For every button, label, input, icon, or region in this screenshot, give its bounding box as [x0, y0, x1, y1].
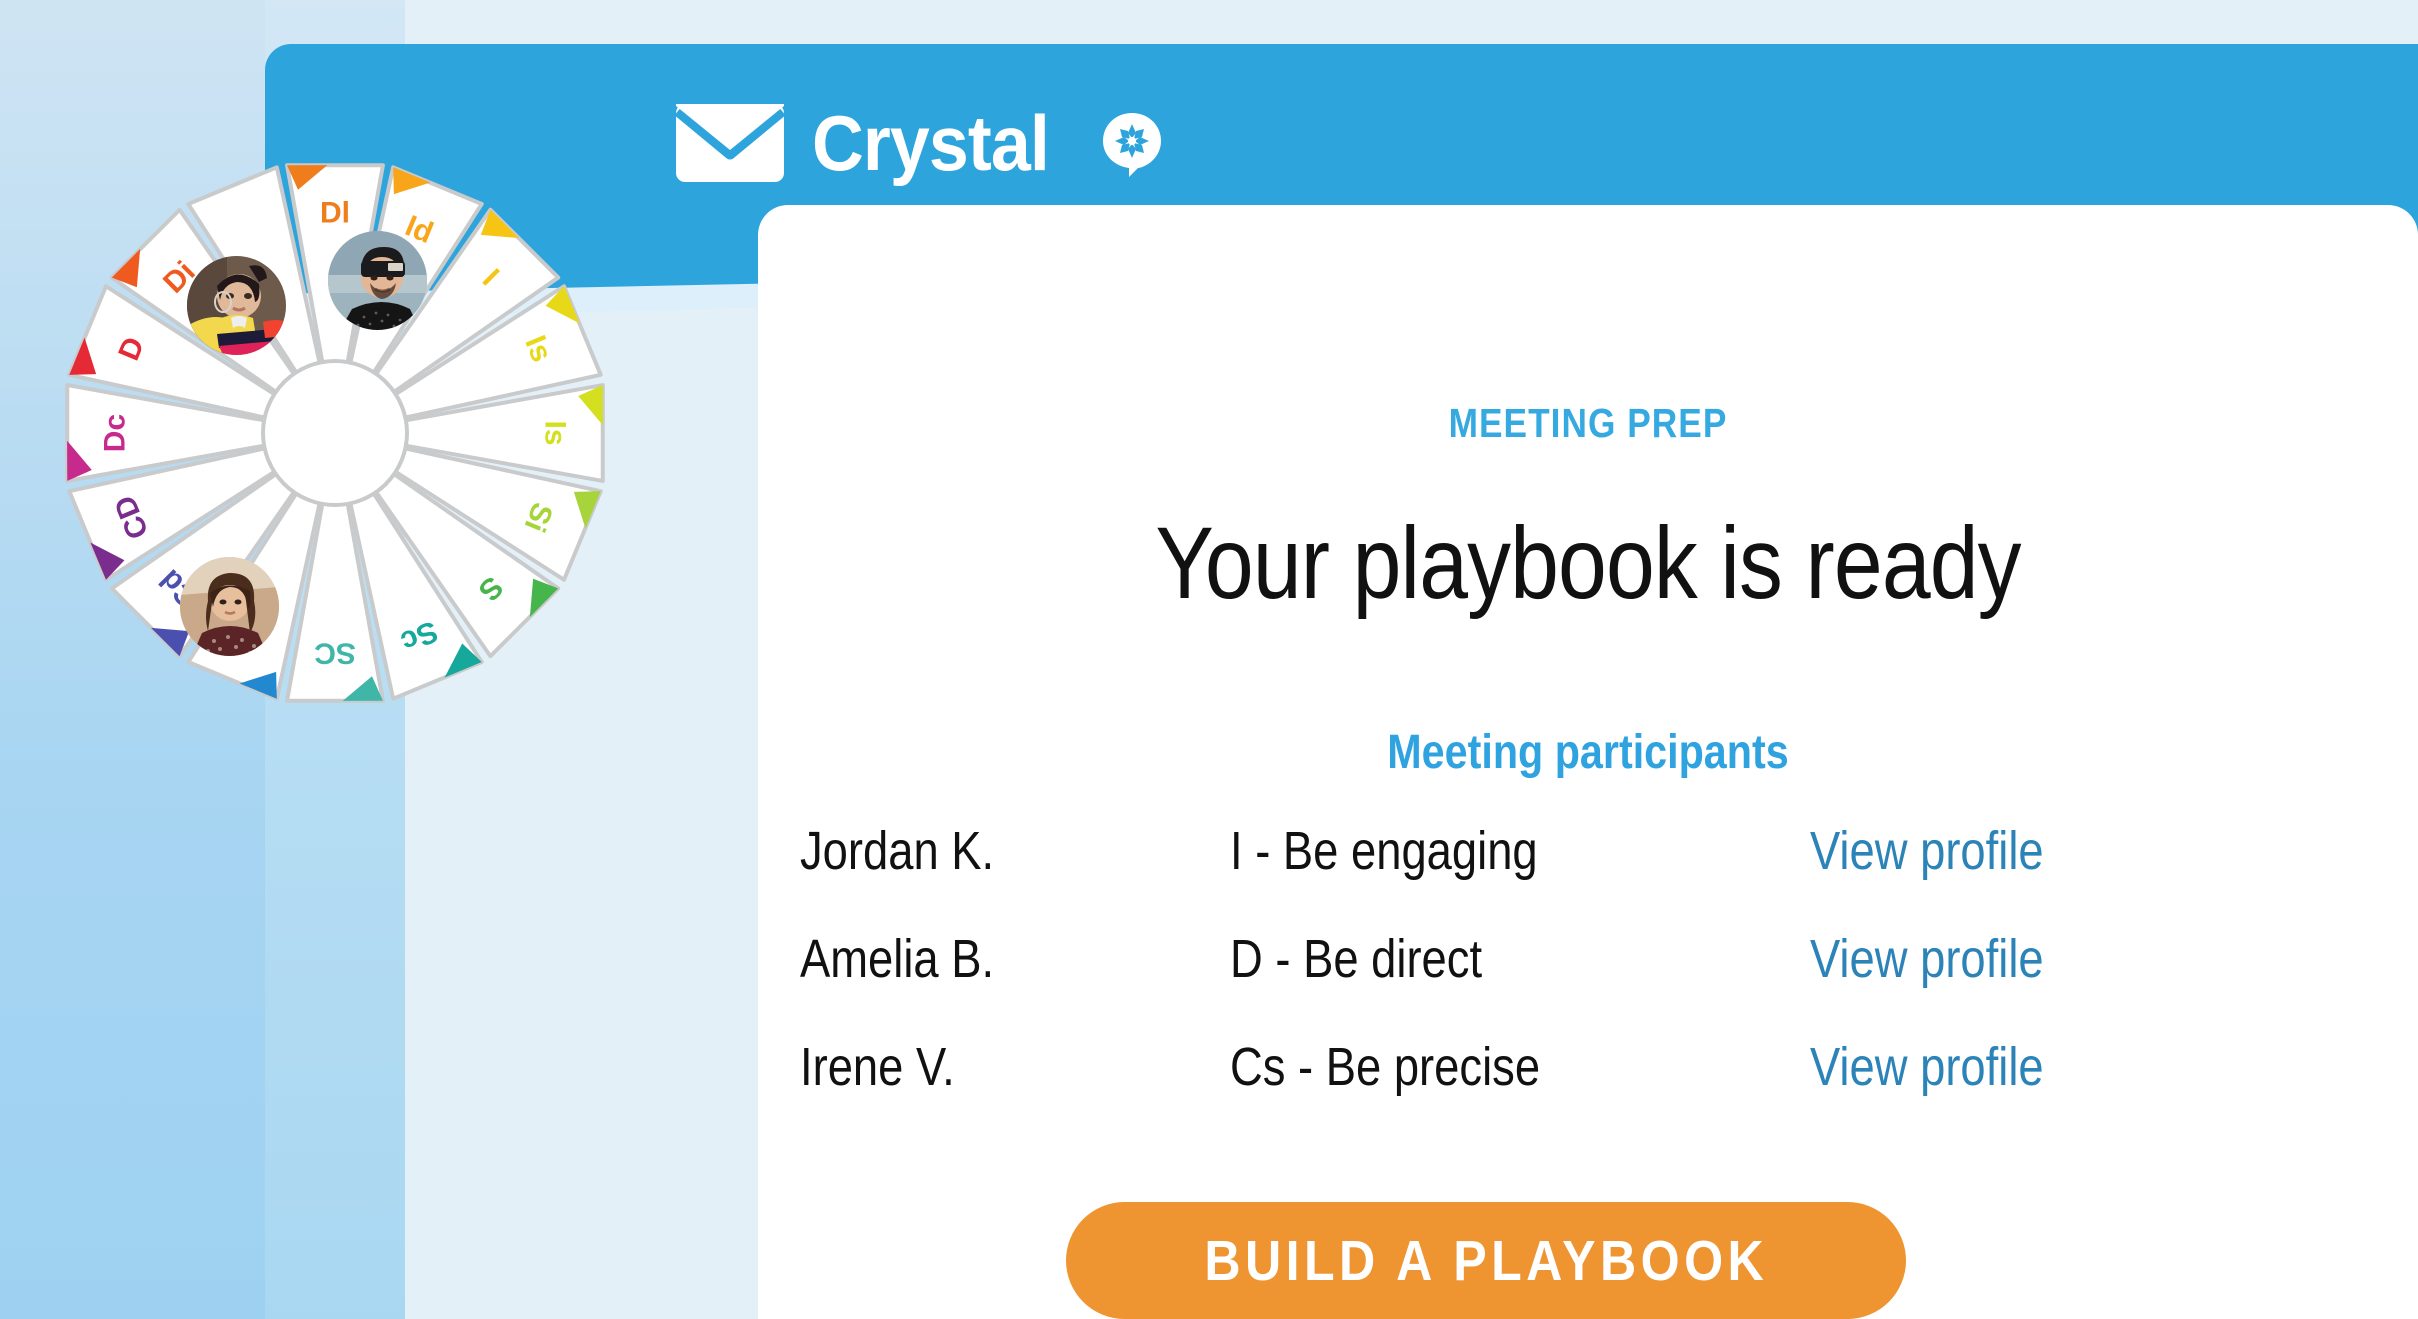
participants-table: Jordan K. I - Be engaging View profile A…	[800, 820, 2380, 1144]
screenshot-root: Crystal MEETING PREP Your playbook is	[0, 0, 2418, 1319]
wheel-svg: DlIdIIsIsSiSScSCCCdCDDcDDi	[35, 133, 635, 733]
wheel-hub	[263, 361, 407, 505]
page-title: Your playbook is ready	[874, 505, 2302, 622]
table-row: Irene V. Cs - Be precise View profile	[800, 1036, 2380, 1144]
participant-trait: Cs - Be precise	[1230, 1036, 1717, 1098]
participant-name: Irene V.	[800, 1036, 1161, 1098]
brand-logo: Crystal	[676, 104, 1163, 182]
crystal-flower-icon	[1101, 112, 1163, 174]
participant-name: Amelia B.	[800, 928, 1161, 990]
participant-trait: D - Be direct	[1230, 928, 1717, 990]
envelope-icon	[676, 104, 784, 182]
disc-personality-wheel: DlIdIIsIsSiSScSCCCdCDDcDDi	[35, 133, 635, 733]
participant-trait: I - Be engaging	[1230, 820, 1717, 882]
view-profile-link[interactable]: View profile	[1810, 928, 2213, 990]
view-profile-link[interactable]: View profile	[1810, 1036, 2213, 1098]
avatar-jordan[interactable]	[328, 231, 427, 330]
table-row: Jordan K. I - Be engaging View profile	[800, 820, 2380, 928]
avatar-irene[interactable]	[180, 557, 279, 656]
brand-name: Crystal	[812, 104, 1049, 182]
segment-label: SC	[314, 637, 356, 670]
avatar-amelia[interactable]	[187, 256, 286, 355]
table-row: Amelia B. D - Be direct View profile	[800, 928, 2380, 1036]
view-profile-link[interactable]: View profile	[1810, 820, 2213, 882]
segment-label: Is	[539, 420, 572, 445]
segment-label: Dc	[99, 414, 132, 452]
cta-label: BUILD A PLAYBOOK	[1204, 1228, 1768, 1294]
segment-label: Dl	[320, 197, 350, 230]
build-a-playbook-button[interactable]: BUILD A PLAYBOOK	[1066, 1202, 1906, 1319]
participants-heading: Meeting participants	[874, 725, 2302, 780]
eyebrow-label: MEETING PREP	[874, 400, 2302, 447]
participant-name: Jordan K.	[800, 820, 1161, 882]
